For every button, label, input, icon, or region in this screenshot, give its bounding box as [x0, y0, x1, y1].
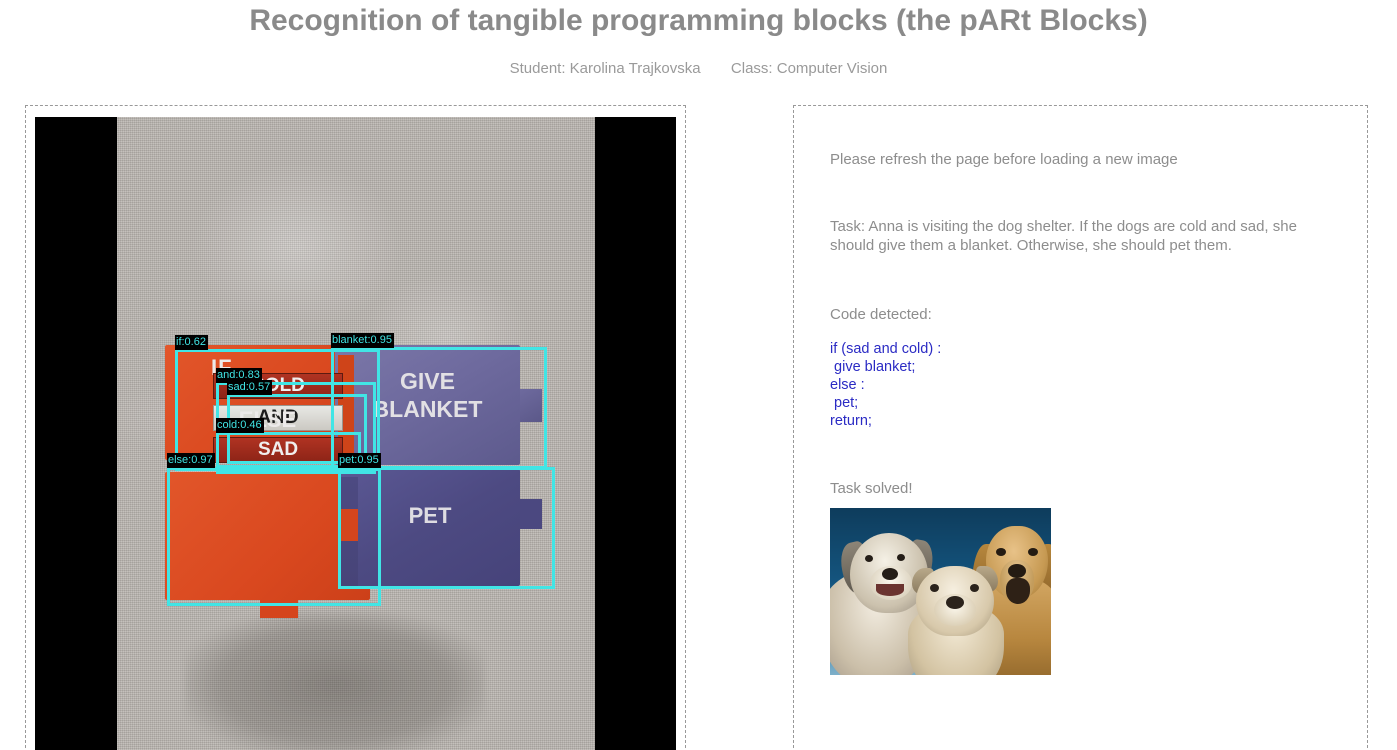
block-else-tab — [260, 600, 298, 618]
dog-left-eye-left — [865, 555, 873, 562]
class-label: Class: Computer Vision — [731, 60, 887, 77]
app-root: Recognition of tangible programming bloc… — [0, 0, 1397, 750]
dog-left-eye-right — [897, 554, 905, 561]
detection-label-if: if:0.62 — [175, 335, 208, 350]
detection-label-sad: sad:0.57 — [227, 380, 272, 395]
task-solved-message: Task solved! — [830, 480, 913, 497]
dog-right-nose — [1008, 564, 1026, 578]
photo-shadow — [185, 612, 485, 750]
block-else-label: ELSE — [165, 407, 370, 433]
block-pet-notch — [520, 499, 542, 529]
detection-label-blanket: blanket:0.95 — [331, 333, 394, 348]
dog-left-mouth — [876, 584, 904, 596]
dog-right-eye-right — [1028, 548, 1038, 556]
refresh-note: Please refresh the page before loading a… — [830, 151, 1330, 168]
block-give-blanket-notch — [520, 389, 542, 422]
student-label: Student: Karolina Trajkovska — [510, 60, 701, 77]
task-description: Task: Anna is visiting the dog shelter. … — [830, 217, 1335, 255]
block-sad-label: SAD — [213, 439, 343, 461]
dog-middle-eye-left — [930, 584, 939, 592]
page-subtitle: Student: Karolina Trajkovska Class: Comp… — [0, 60, 1397, 77]
results-panel: Please refresh the page before loading a… — [793, 105, 1368, 750]
detection-label-cold: cold:0.46 — [216, 418, 264, 433]
dog-right-eye-left — [996, 548, 1006, 556]
result-dogs-image — [830, 508, 1051, 675]
detection-label-else: else:0.97 — [167, 453, 215, 468]
dog-middle-eye-right — [970, 584, 979, 592]
annotated-photo[interactable]: IF GIVEBLANKET COLD AND SAD ELSE PET if:… — [35, 117, 676, 750]
dog-middle-nose — [946, 596, 964, 609]
detection-label-pet: pet:0.95 — [338, 453, 381, 468]
dog-left-nose — [882, 568, 898, 580]
block-pet-label: PET — [340, 503, 520, 529]
code-detected-heading: Code detected: — [830, 306, 932, 323]
detection-image-panel: IF GIVEBLANKET COLD AND SAD ELSE PET if:… — [25, 105, 686, 750]
dog-right-mouth — [1006, 578, 1030, 604]
page-title: Recognition of tangible programming bloc… — [0, 4, 1397, 38]
detected-code-block: if (sad and cold) : give blanket; else :… — [830, 340, 941, 430]
